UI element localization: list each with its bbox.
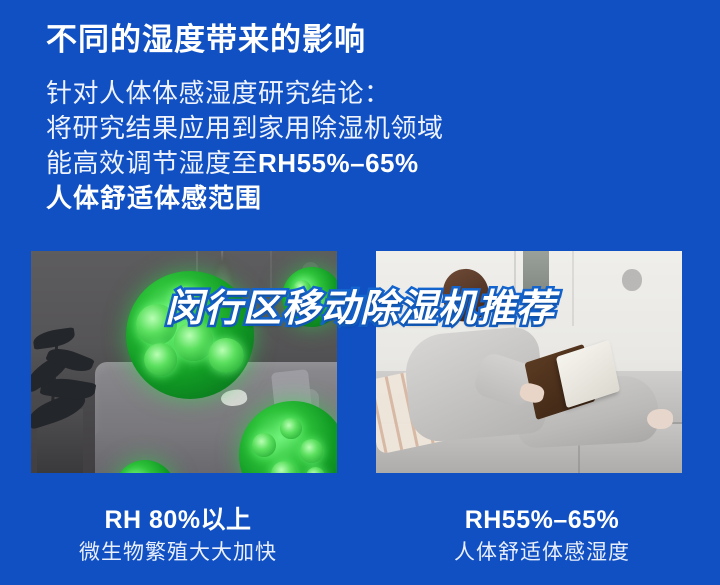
body-line-4: 人体舒适体感范围 xyxy=(46,181,444,216)
caption-right: RH55%–65% 人体舒适体感湿度 xyxy=(372,505,712,566)
caption-right-title: RH55%–65% xyxy=(372,505,712,535)
humidity-infographic-poster: 不同的湿度带来的影响 针对人体体感湿度研究结论： 将研究结果应用到家用除湿机领域… xyxy=(0,0,720,585)
page-title: 不同的湿度带来的影响 xyxy=(46,14,366,59)
body-copy: 针对人体体感湿度研究结论： 将研究结果应用到家用除湿机领域 能高效调节湿度至RH… xyxy=(46,76,444,216)
person-foot-icon xyxy=(647,409,673,429)
body-line-1: 针对人体体感湿度研究结论： xyxy=(46,76,444,111)
caption-left-title: RH 80%以上 xyxy=(8,505,348,535)
caption-left: RH 80%以上 微生物繁殖大大加快 xyxy=(8,505,348,566)
body-line-2: 将研究结果应用到家用除湿机领域 xyxy=(46,111,444,146)
body-line-3-prefix: 能高效调节湿度至 xyxy=(46,148,258,178)
body-line-3: 能高效调节湿度至RH55%–65% xyxy=(46,146,444,181)
watermark-text: 闵行区移动除湿机推荐 xyxy=(0,277,720,332)
caption-left-subtitle: 微生物繁殖大大加快 xyxy=(8,540,348,566)
caption-right-subtitle: 人体舒适体感湿度 xyxy=(372,540,712,566)
body-line-3-range: RH55%–65% xyxy=(258,148,419,178)
